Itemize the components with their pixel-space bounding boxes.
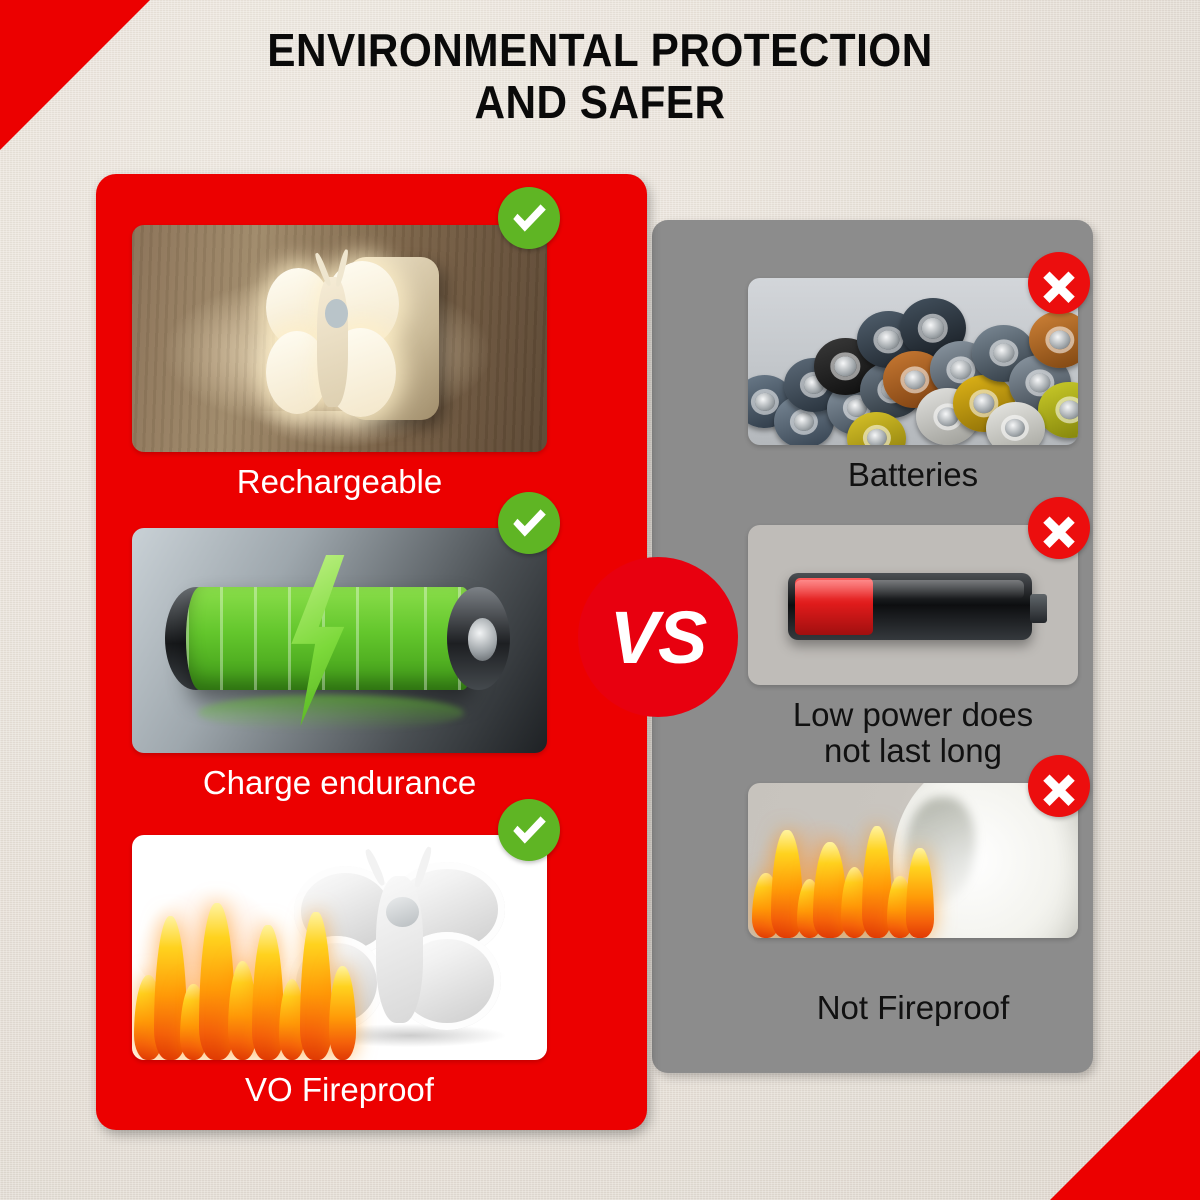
check-icon (498, 187, 560, 249)
con-card-batteries: Batteries (748, 278, 1078, 493)
pro-thumb-rechargeable (132, 225, 547, 452)
low-battery-image (748, 525, 1078, 685)
check-icon (498, 492, 560, 554)
con-caption-not-fireproof: Not Fireproof (748, 990, 1078, 1026)
vs-badge: VS (578, 557, 738, 717)
cross-icon (1028, 252, 1090, 314)
pro-thumb-charge-endurance (132, 528, 547, 753)
pro-panel: Rechargeable Charge endurance (96, 174, 647, 1130)
pro-caption-vo-fireproof: VO Fireproof (132, 1072, 547, 1108)
battery-pile-image (748, 278, 1078, 445)
pro-card-vo-fireproof: VO Fireproof (132, 835, 547, 1108)
pro-card-charge-endurance: Charge endurance (132, 528, 547, 801)
con-card-not-fireproof: Not Fireproof (748, 783, 1078, 1026)
con-thumb-low-power (748, 525, 1078, 685)
infographic-page: ENVIRONMENTAL PROTECTION AND SAFER (0, 0, 1200, 1200)
green-battery-image (132, 528, 547, 753)
fireproof-butterfly-image (132, 835, 547, 1060)
pro-caption-charge-endurance: Charge endurance (132, 765, 547, 801)
con-caption-low-power: Low power does not last long (748, 697, 1078, 768)
pro-caption-rechargeable: Rechargeable (132, 464, 547, 500)
butterfly-wall-light-image (132, 225, 547, 452)
pro-card-rechargeable: Rechargeable (132, 225, 547, 500)
con-card-low-power: Low power does not last long (748, 525, 1078, 768)
check-icon (498, 799, 560, 861)
con-thumb-batteries (748, 278, 1078, 445)
burning-object-image (748, 783, 1078, 938)
con-caption-batteries: Batteries (748, 457, 1078, 493)
cross-icon (1028, 755, 1090, 817)
pro-thumb-vo-fireproof (132, 835, 547, 1060)
cross-icon (1028, 497, 1090, 559)
page-title: ENVIRONMENTAL PROTECTION AND SAFER (48, 24, 1152, 129)
con-thumb-not-fireproof (748, 783, 1078, 938)
